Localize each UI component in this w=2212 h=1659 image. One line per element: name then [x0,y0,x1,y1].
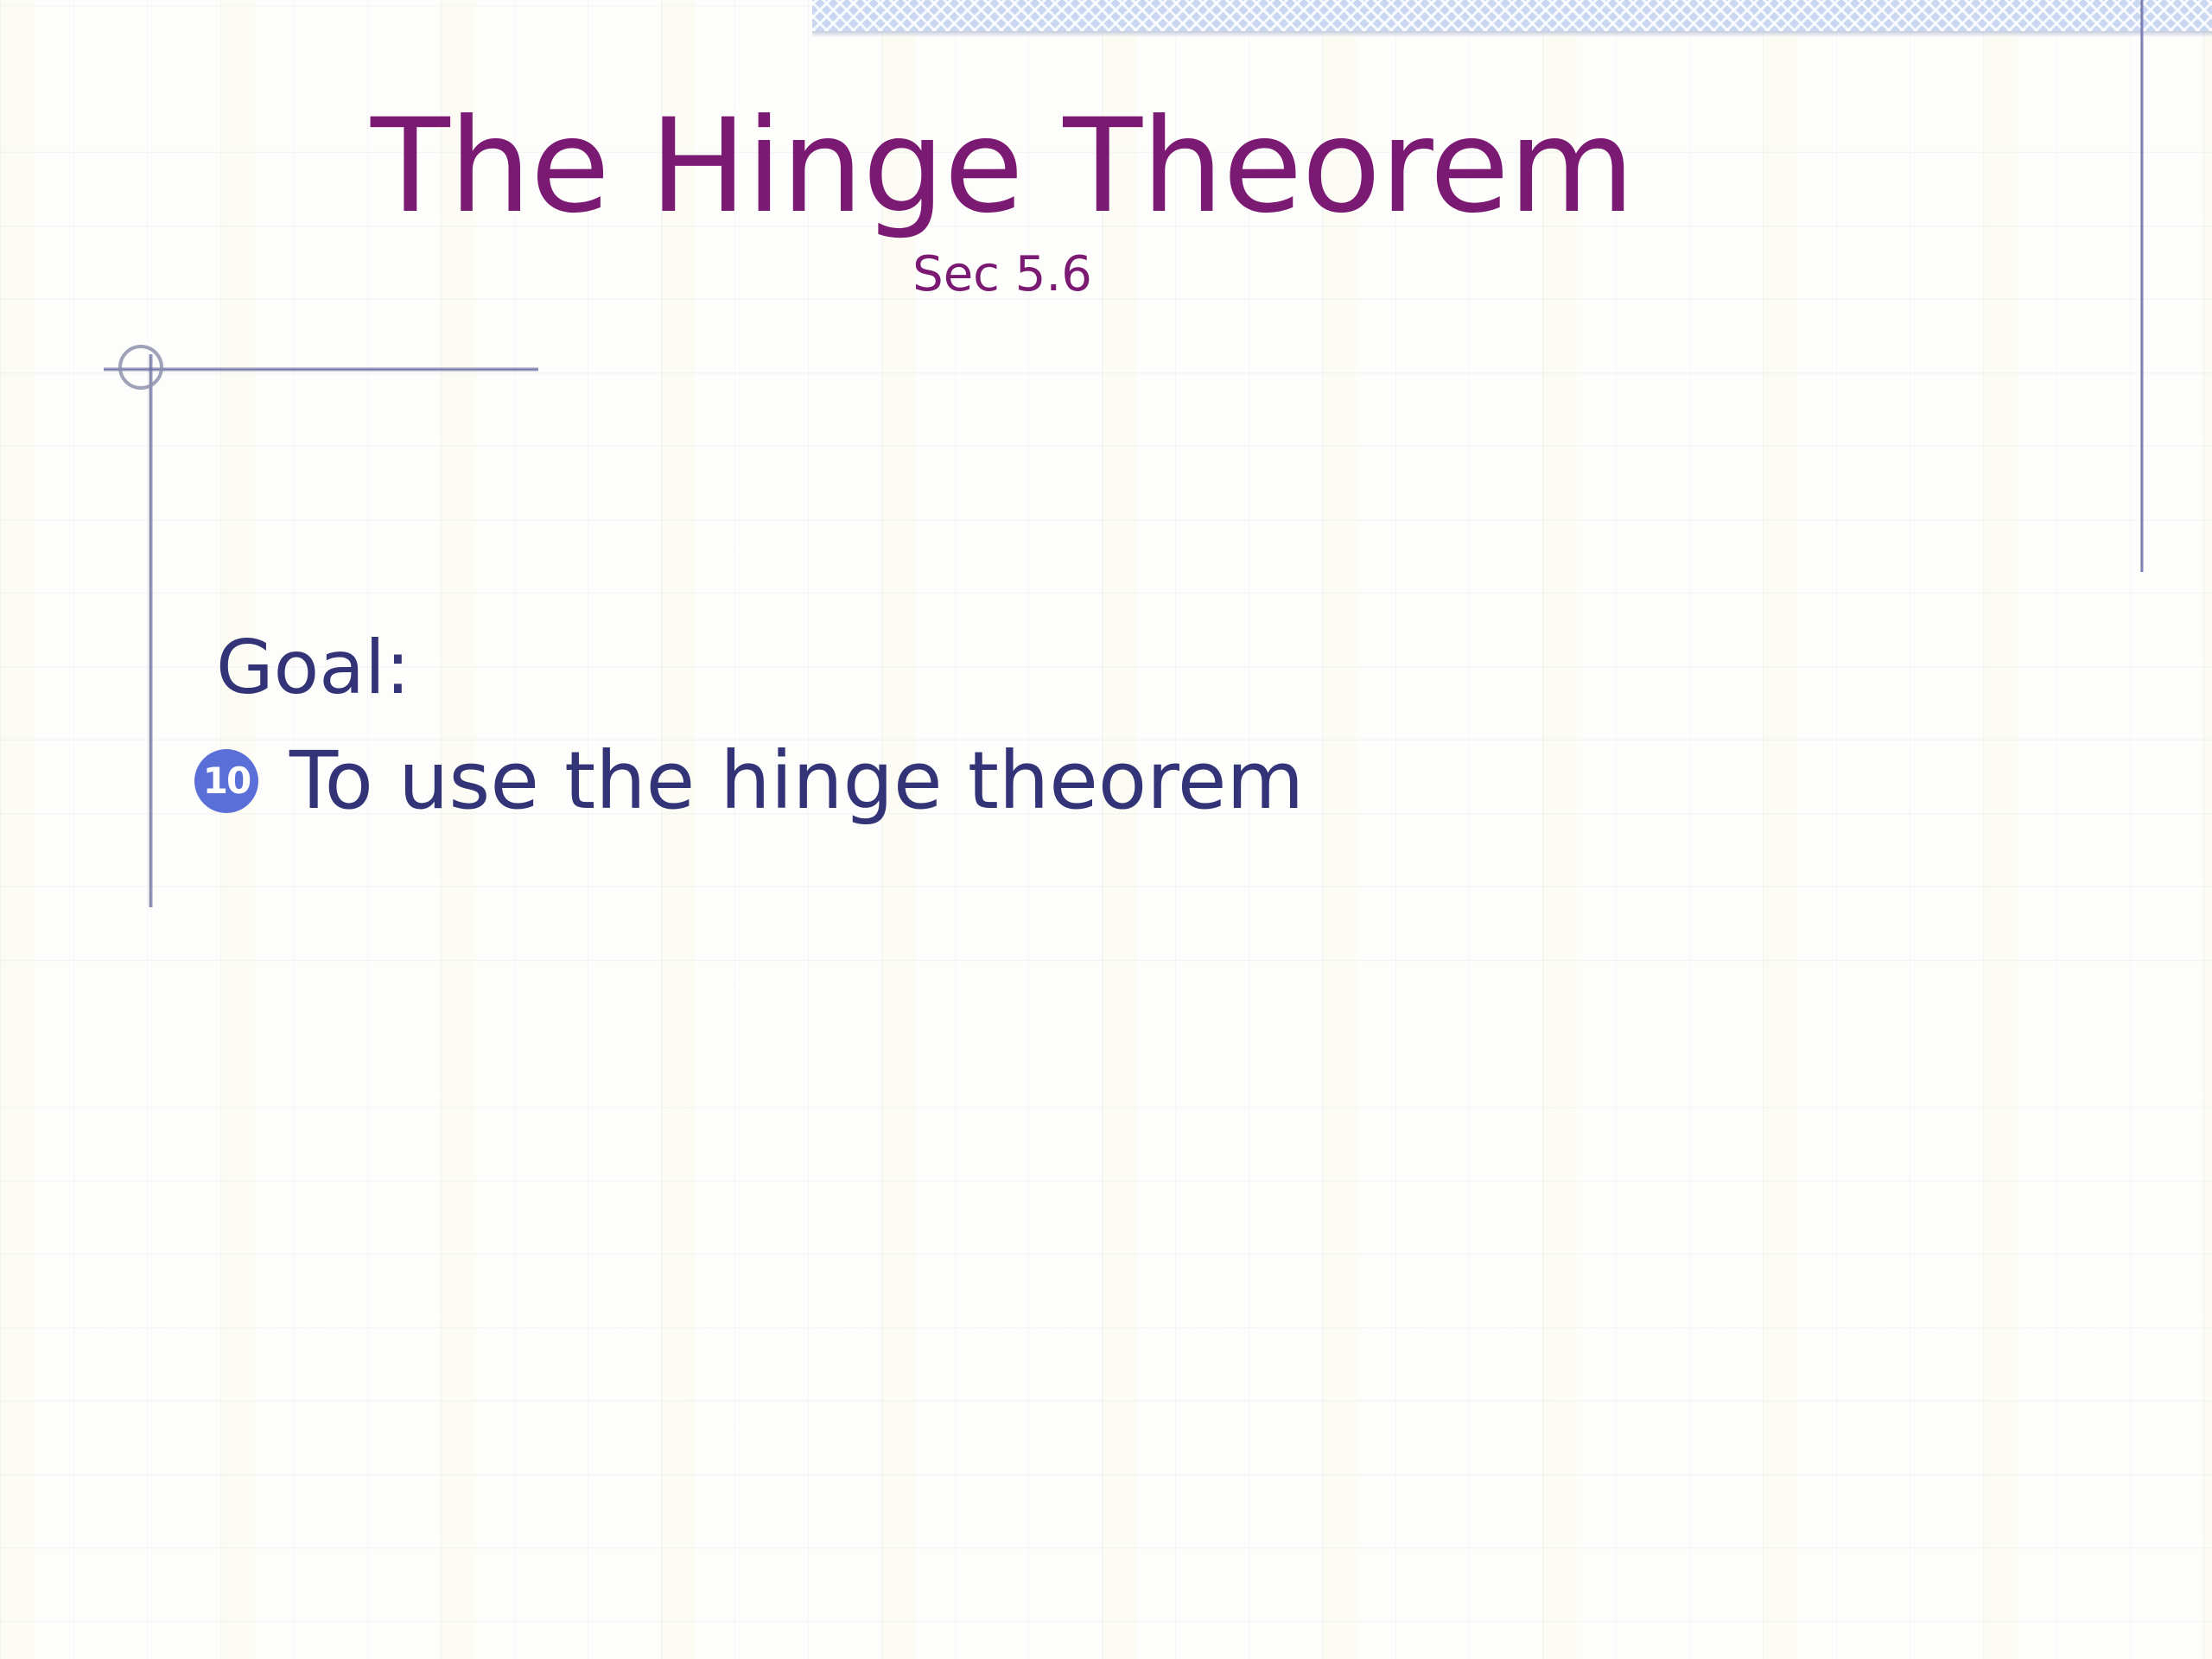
slide-body: Goal: 10 To use the hinge theorem [216,631,2031,821]
presentation-slide: The Hinge Theorem Sec 5.6 Goal: 10 To us… [0,0,2212,1659]
accent-horizontal-rule [104,367,538,372]
crosshatch-band-icon [812,0,2212,31]
page-subtitle: Sec 5.6 [0,251,2005,299]
page-title: The Hinge Theorem [0,102,2005,232]
accent-vertical-rule [149,354,153,907]
crosshatch-band-shadow [812,31,2212,37]
title-block: The Hinge Theorem Sec 5.6 [0,102,2005,299]
circled-number-ten-bullet-icon: 10 [194,749,258,813]
accent-circle-icon [118,345,163,390]
right-vertical-rule-accent [2140,0,2144,572]
list-item: 10 To use the hinge theorem [194,741,2031,821]
list-item-label: To use the hinge theorem [289,741,1304,821]
goal-heading: Goal: [216,631,2031,705]
